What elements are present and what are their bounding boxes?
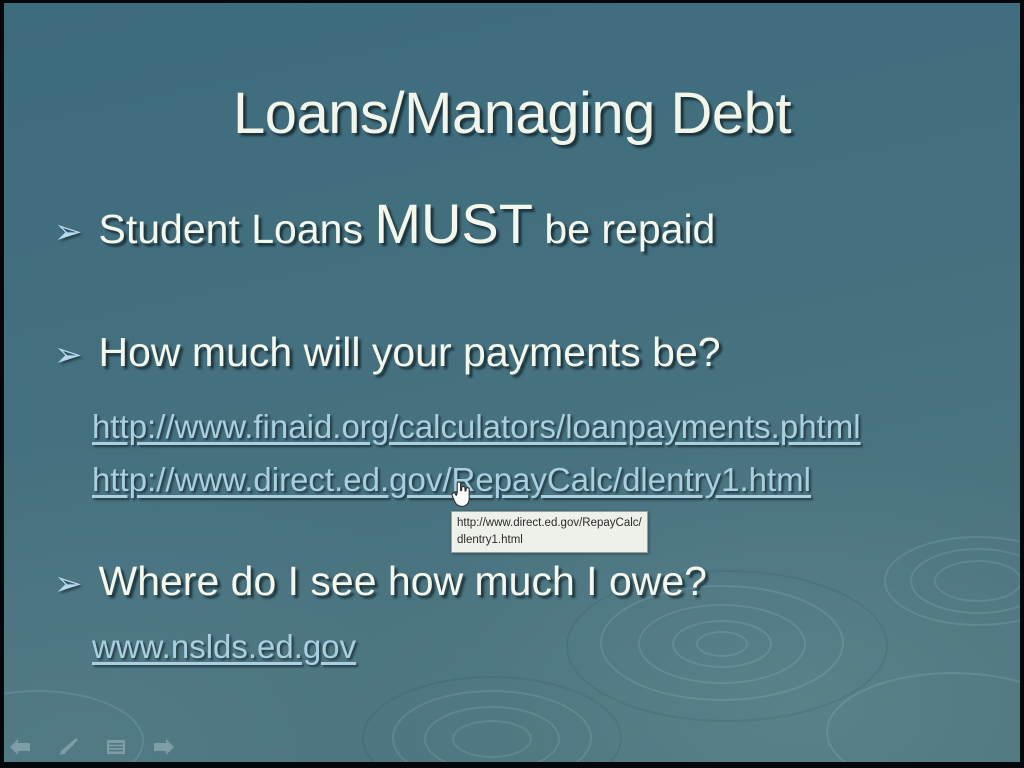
- bullet-arrow-icon: ➢: [54, 567, 83, 601]
- bullet-item-1-text-post: be repaid: [533, 206, 715, 252]
- previous-slide-arrow-icon[interactable]: [8, 736, 32, 758]
- bullet-item-1: ➢ Student Loans MUST be repaid: [54, 196, 715, 253]
- slide-menu-icon[interactable]: [104, 736, 128, 758]
- presenter-toolbar[interactable]: [8, 736, 176, 758]
- next-slide-arrow-icon[interactable]: [152, 736, 176, 758]
- bullet-item-1-text: Student Loans MUST be repaid: [99, 196, 716, 253]
- bullet-item-3: ➢ Where do I see how much I owe?: [54, 558, 707, 605]
- bullet-item-3-text: Where do I see how much I owe?: [99, 558, 707, 605]
- bullet-item-2-text: How much will your payments be?: [99, 329, 721, 376]
- pen-tool-icon[interactable]: [56, 736, 80, 758]
- page-title: Loans/Managing Debt: [0, 84, 1024, 145]
- tooltip-line-1: http://www.direct.ed.gov/RepayCalc/: [457, 515, 642, 532]
- link-url-tooltip: http://www.direct.ed.gov/RepayCalc/ dlen…: [451, 511, 648, 553]
- bullet-item-1-emphasis: MUST: [374, 192, 533, 255]
- bullet-arrow-icon: ➢: [54, 215, 83, 249]
- bullet-item-2: ➢ How much will your payments be?: [54, 329, 721, 376]
- bullet-item-1-text-pre: Student Loans: [99, 206, 375, 252]
- tooltip-line-2: dlentry1.html: [457, 532, 642, 549]
- presentation-slide-viewer[interactable]: Loans/Managing Debt ➢ Student Loans MUST…: [0, 0, 1024, 768]
- bullet-arrow-icon: ➢: [54, 338, 83, 372]
- hyperlink-nslds[interactable]: www.nslds.ed.gov: [92, 628, 356, 666]
- hyperlink-direct-ed-repay-calculator[interactable]: http://www.direct.ed.gov/RepayCalc/dlent…: [92, 461, 811, 499]
- hyperlink-finaid-loan-calculator[interactable]: http://www.finaid.org/calculators/loanpa…: [92, 408, 861, 446]
